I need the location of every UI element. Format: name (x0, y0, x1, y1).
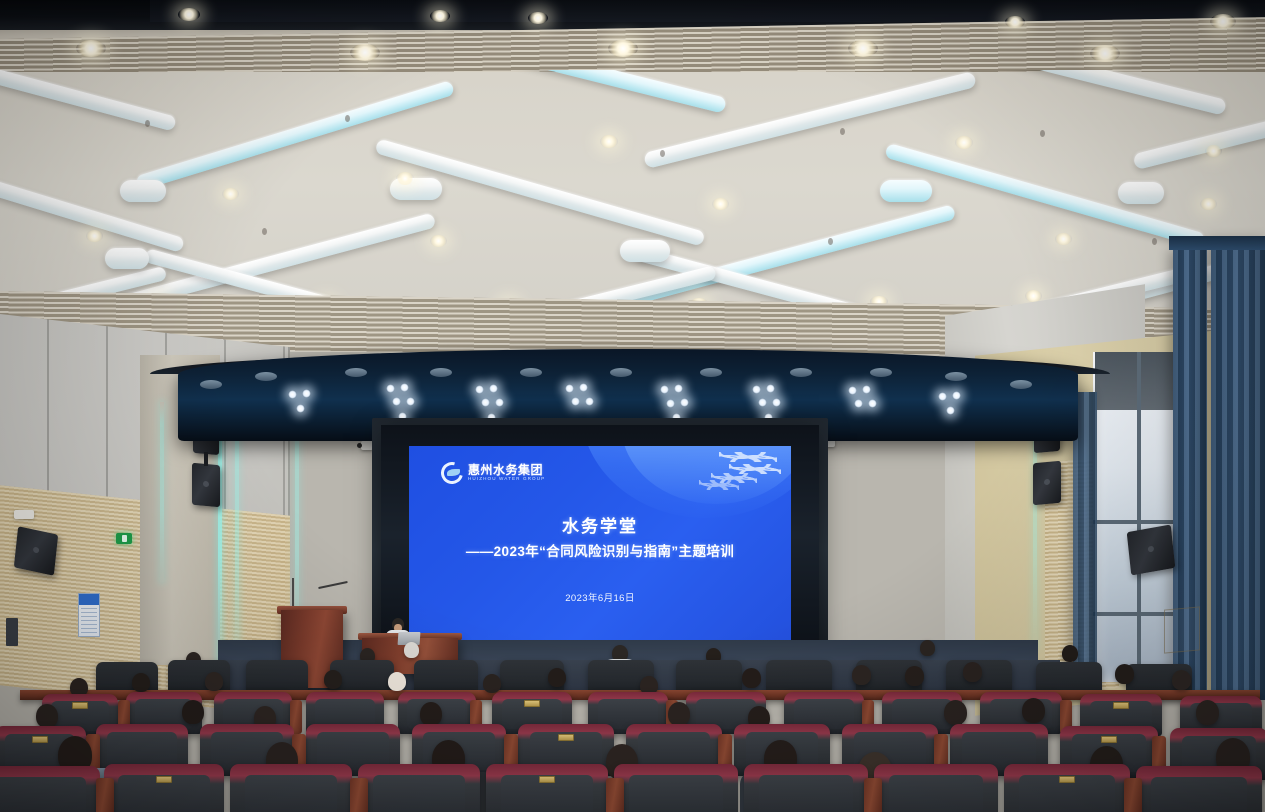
ceiling-downlight (1090, 45, 1120, 62)
stage-spotlight (571, 397, 580, 406)
attendee-head (483, 674, 501, 693)
seat (744, 764, 868, 812)
logo-text-en: HUIZHOU WATER GROUP (468, 477, 545, 482)
stage-spotlight (660, 385, 669, 394)
seat (246, 660, 308, 694)
seat (676, 660, 742, 694)
attendee-head (905, 666, 924, 686)
wall-speaker-left-lower (192, 463, 220, 507)
attendee-head (852, 665, 871, 685)
ceiling-downlight (712, 198, 729, 210)
attendee-head (944, 700, 967, 725)
ceiling-downlight (608, 40, 638, 57)
wall-access-hatch (1164, 606, 1200, 653)
stage-spotlight (666, 399, 675, 408)
stage-spotlight (565, 384, 574, 393)
stage-spotlight (296, 404, 305, 413)
stage-spotlight (481, 398, 490, 407)
podium-microphone (318, 581, 348, 589)
stage-spotlight (400, 383, 409, 392)
seat (1136, 766, 1262, 812)
ceiling-downlight (528, 12, 548, 24)
stage-spotlight (680, 398, 689, 407)
logo-text-cn: 惠州水务集团 (468, 464, 545, 476)
stage-spotlight (386, 384, 395, 393)
company-logo: 惠州水务集团 HUIZHOU WATER GROUP (441, 462, 545, 484)
wall-speaker-right-side (1127, 525, 1176, 576)
attendee-head (963, 662, 982, 682)
stage-spotlight (938, 392, 947, 401)
ceiling-downlight (955, 136, 973, 149)
ceiling-downlight (430, 235, 447, 247)
seat-armrest (96, 778, 114, 812)
stage-spotlight (585, 397, 594, 406)
curtain-rod (1169, 236, 1265, 250)
ceiling-lattice (0, 70, 1265, 330)
ceiling-dark-recess-inner (150, 0, 1265, 22)
attendee-head (1022, 698, 1045, 723)
seat (1004, 764, 1130, 812)
ceiling-downlight (1055, 233, 1072, 245)
wall-control-panel (6, 618, 18, 646)
presentation-slide: 惠州水务集团 HUIZHOU WATER GROUP 水务学堂 ——2023年“… (409, 446, 791, 644)
stage-spotlight (489, 384, 498, 393)
stage-spotlight (475, 385, 484, 394)
slide-date: 2023年6月16日 (409, 590, 791, 604)
seat-armrest (864, 778, 882, 812)
seat (766, 660, 832, 694)
seat-armrest (606, 778, 624, 812)
attendee-head (920, 640, 935, 656)
attendee-head (205, 672, 223, 691)
attendee-head (548, 668, 566, 687)
stage-spotlight (758, 398, 767, 407)
ceiling-downlight (222, 188, 239, 200)
stage-spotlight (392, 397, 401, 406)
ceiling-downlight (1210, 14, 1236, 29)
stage-spotlight (674, 384, 683, 393)
stage-spotlight (495, 398, 504, 407)
seat (104, 764, 224, 812)
curtain-right-outer (1211, 240, 1265, 700)
window-mullion (1093, 520, 1179, 524)
attendee-head (132, 673, 150, 692)
seat (0, 766, 100, 812)
seat (486, 764, 608, 812)
wall-speaker-right-lower (1033, 461, 1061, 505)
ceiling-downlight (350, 44, 380, 61)
attendee-head (742, 668, 761, 688)
ceiling-downlight (1205, 145, 1222, 157)
ceiling-downlight (1005, 16, 1025, 28)
stage-spotlight (848, 386, 857, 395)
stage-spotlight (862, 385, 871, 394)
ceiling-downlight (178, 8, 200, 21)
ceiling-downlight (600, 135, 618, 148)
seat (358, 764, 480, 812)
seat-armrest (350, 778, 368, 812)
slide-title: 水务学堂 (409, 512, 791, 537)
stage-spotlight (946, 406, 955, 415)
exit-sign-icon (116, 533, 132, 544)
attendee-head (324, 670, 342, 689)
water-drop-icon (441, 462, 463, 484)
seat (414, 660, 478, 694)
seat (614, 764, 738, 812)
wall-glow-strip (160, 402, 164, 582)
podium-mic-stand (292, 578, 294, 608)
ceiling-downlight (396, 172, 414, 185)
stage-spotlight (772, 398, 781, 407)
attendee-head (1196, 700, 1219, 725)
wall-info-poster (78, 593, 100, 637)
window-shade (1095, 352, 1173, 410)
attendee-head (182, 700, 204, 724)
attendee-head (1062, 645, 1078, 662)
stage-spotlight (288, 390, 297, 399)
stage-spotlight (952, 391, 961, 400)
seat (874, 764, 998, 812)
slide-wave-line (719, 452, 777, 462)
slide-wave-line (699, 480, 739, 490)
stage-spotlight (579, 383, 588, 392)
ceiling-downlight (430, 10, 450, 22)
stage-spotlight (766, 384, 775, 393)
stage-spotlight (854, 399, 863, 408)
window-mullion (1137, 352, 1141, 682)
ceiling-downlight (76, 40, 106, 57)
stage-spotlight (752, 385, 761, 394)
attendee-head (420, 702, 442, 726)
attendee-head (1115, 664, 1134, 684)
wall-vent (14, 510, 34, 519)
slide-subtitle: ——2023年“合同风险识别与指南”主题培训 (409, 540, 791, 560)
seat (230, 764, 352, 812)
ceiling-downlight (848, 40, 878, 57)
attendee-head (1172, 670, 1191, 690)
stage-spotlight (302, 389, 311, 398)
seat-armrest (1124, 778, 1142, 812)
wall-speaker-left-side (14, 526, 58, 576)
attendee-head (36, 704, 58, 728)
attendee-head (388, 672, 406, 691)
ceiling-downlight (1200, 198, 1217, 210)
auditorium-photo: 惠州水务集团 HUIZHOU WATER GROUP 水务学堂 ——2023年“… (0, 0, 1265, 812)
stage-spotlight (406, 397, 415, 406)
stage-spotlight (868, 399, 877, 408)
attendee-head (404, 642, 419, 658)
attendee-head (668, 702, 690, 726)
ceiling-downlight (86, 230, 103, 242)
